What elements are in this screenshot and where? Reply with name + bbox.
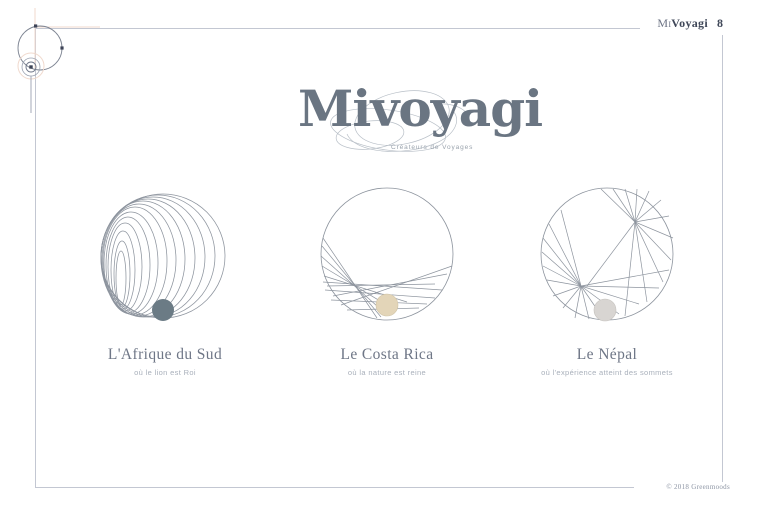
slide-page: MiVoyagi 8 Mivoyagi Créateurs de Voyages (0, 0, 768, 511)
footer-copyright: © 2018 Greenmoods (600, 483, 730, 495)
double-radial-illustration (527, 178, 687, 338)
destination-cards: L'Afrique du Sud où le lion est Roi (0, 178, 768, 393)
destination-title: L'Afrique du Sud (50, 346, 280, 364)
destination-caption: Le Népal où l'expérience atteint des som… (492, 346, 722, 377)
destination-card[interactable]: Le Népal où l'expérience atteint des som… (492, 178, 722, 393)
header-brand-prefix: Mi (657, 16, 671, 30)
destination-subtitle: où l'expérience atteint des sommets (492, 368, 722, 377)
page-number: 8 (717, 16, 723, 31)
destination-card[interactable]: Le Costa Rica où la nature est reine (272, 178, 502, 393)
destination-dot (376, 294, 398, 316)
destination-subtitle: où le lion est Roi (50, 368, 280, 377)
destination-title: Le Costa Rica (272, 346, 502, 364)
corner-ornament-icon (0, 8, 100, 118)
corner-ornament (0, 8, 100, 118)
destination-caption: L'Afrique du Sud où le lion est Roi (50, 346, 280, 377)
destination-dot (152, 299, 174, 321)
destination-caption: Le Costa Rica où la nature est reine (272, 346, 502, 377)
destination-title: Le Népal (492, 346, 722, 364)
destination-card[interactable]: L'Afrique du Sud où le lion est Roi (50, 178, 280, 393)
chord-fan-illustration (307, 178, 467, 338)
logo: Mivoyagi Créateurs de Voyages (284, 86, 494, 160)
destination-subtitle: où la nature est reine (272, 368, 502, 377)
concentric-arcs-illustration (85, 178, 245, 338)
header-brand: MiVoyagi (657, 16, 708, 31)
destination-dot (594, 299, 616, 321)
header-brand-suffix: Voyagi (671, 16, 708, 30)
logo-wordmark: Mivoyagi (298, 84, 542, 134)
logo-tagline: Créateurs de Voyages (391, 144, 473, 151)
header: MiVoyagi 8 (600, 14, 723, 32)
